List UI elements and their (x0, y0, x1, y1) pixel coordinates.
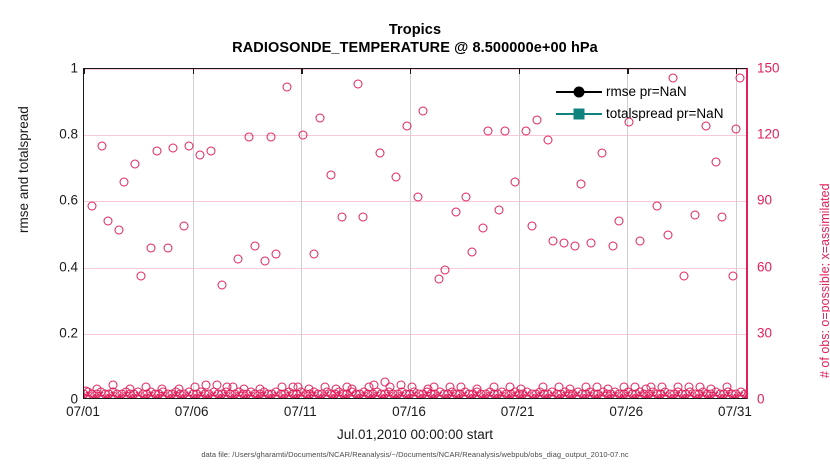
obs-possible-marker (283, 82, 292, 91)
obs-possible-marker (196, 151, 205, 160)
obs-possible-marker (598, 148, 607, 157)
legend-item-totalspread[interactable]: totalspread pr=NaN (556, 104, 723, 123)
obs-possible-marker (435, 274, 444, 283)
obs-possible-marker (511, 177, 520, 186)
x-axis-top-tickmark (301, 69, 302, 74)
y-axis-right-tick-label: 90 (757, 193, 772, 208)
y-axis-right-title: # of obs: o=possible; x=assimilated (818, 183, 830, 378)
obs-possible-marker (147, 243, 156, 252)
obs-possible-marker (413, 192, 422, 201)
vertical-gridline (410, 69, 411, 398)
obs-possible-marker (500, 126, 509, 135)
horizontal-gridline (84, 135, 746, 136)
data-file-caption: data file: /Users/gharamti/Documents/NCA… (0, 450, 830, 459)
vertical-gridline (519, 69, 520, 398)
obs-possible-marker (185, 142, 194, 151)
obs-possible-marker (250, 241, 259, 250)
obs-possible-marker (353, 80, 362, 89)
obs-possible-marker (701, 122, 710, 131)
figure-canvas: Tropics RADIOSONDE_TEMPERATURE @ 8.50000… (0, 0, 830, 470)
obs-possible-marker (266, 133, 275, 142)
obs-possible-marker (549, 237, 558, 246)
x-axis-top-tickmark (519, 69, 520, 74)
x-axis-tick-label: 07/21 (501, 404, 535, 419)
x-axis-tick-label: 07/11 (284, 404, 317, 419)
obs-possible-marker (136, 272, 145, 281)
obs-possible-marker (310, 250, 319, 259)
x-axis-tick-label: 07/06 (175, 404, 209, 419)
obs-possible-marker (736, 73, 745, 82)
obs-possible-marker (98, 142, 107, 151)
legend-label-rmse: rmse pr=NaN (602, 84, 687, 99)
y-axis-left-tick-label: 0.2 (59, 325, 78, 340)
x-axis-title: Jul.01,2010 00:00:00 start (0, 427, 830, 442)
x-axis-top-tickmark (410, 69, 411, 74)
obs-possible-marker (609, 241, 618, 250)
obs-possible-marker (543, 135, 552, 144)
obs-possible-marker (728, 272, 737, 281)
y-axis-right-tick-label: 30 (757, 325, 772, 340)
x-axis-top-tickmark (627, 69, 628, 74)
obs-possible-marker (419, 106, 428, 115)
chart-title-block: Tropics RADIOSONDE_TEMPERATURE @ 8.50000… (0, 22, 830, 58)
obs-possible-marker (272, 250, 281, 259)
obs-possible-marker (245, 133, 254, 142)
legend-label-totalspread: totalspread pr=NaN (602, 106, 723, 121)
obs-possible-marker (169, 144, 178, 153)
obs-possible-marker (440, 265, 449, 274)
y-axis-left-tick-label: 1 (70, 61, 78, 76)
x-axis-top-tickmark (193, 69, 194, 74)
obs-possible-marker (87, 201, 96, 210)
horizontal-gridline (84, 201, 746, 202)
legend-marker-rmse-circle-icon (556, 85, 602, 99)
x-axis-tick-label: 07/31 (718, 404, 752, 419)
obs-possible-marker (103, 217, 112, 226)
y-axis-left-tick-label: 0.6 (59, 193, 78, 208)
obs-possible-marker (712, 157, 721, 166)
obs-possible-marker (560, 239, 569, 248)
y-axis-left-tick-label: 0.8 (59, 127, 78, 142)
x-axis-tick-label: 07/16 (392, 404, 426, 419)
obs-possible-marker (690, 210, 699, 219)
obs-possible-marker (652, 201, 661, 210)
x-axis-top-tickmark (84, 69, 85, 74)
obs-possible-marker (717, 212, 726, 221)
obs-possible-marker (731, 124, 740, 133)
y-axis-right-tick-label: 0 (757, 392, 765, 407)
obs-possible-marker (522, 126, 531, 135)
obs-possible-marker (745, 389, 747, 398)
obs-possible-marker (315, 113, 324, 122)
obs-possible-marker (163, 243, 172, 252)
obs-possible-marker (527, 221, 536, 230)
obs-possible-marker (375, 148, 384, 157)
horizontal-gridline (84, 69, 746, 70)
obs-possible-marker (234, 254, 243, 263)
chart-title-variable: RADIOSONDE_TEMPERATURE @ 8.500000e+00 hP… (0, 39, 830, 58)
obs-possible-marker (679, 272, 688, 281)
x-axis-tick-label: 07/26 (609, 404, 643, 419)
obs-possible-marker (576, 179, 585, 188)
vertical-gridline (193, 69, 194, 398)
horizontal-gridline (84, 334, 746, 335)
horizontal-gridline (84, 268, 746, 269)
obs-possible-marker (207, 146, 216, 155)
obs-possible-marker (299, 131, 308, 140)
obs-possible-marker (533, 115, 542, 124)
legend-item-rmse[interactable]: rmse pr=NaN (556, 82, 723, 101)
y-axis-left-title: rmse and totalspread (16, 106, 31, 233)
obs-possible-marker (571, 241, 580, 250)
y-axis-right-tick-label: 120 (757, 127, 780, 142)
obs-possible-marker (179, 221, 188, 230)
obs-possible-marker (636, 237, 645, 246)
x-axis-tick-label: 07/01 (66, 404, 100, 419)
obs-possible-marker (478, 223, 487, 232)
obs-possible-marker (495, 206, 504, 215)
legend-marker-totalspread-square-icon (556, 107, 602, 121)
y-axis-left-tick-label: 0.4 (59, 259, 78, 274)
obs-possible-marker (614, 217, 623, 226)
obs-possible-marker (467, 248, 476, 257)
obs-possible-marker (326, 170, 335, 179)
obs-possible-marker (217, 281, 226, 290)
obs-possible-marker (261, 256, 270, 265)
y-axis-right-tick-label: 60 (757, 259, 772, 274)
obs-possible-marker (120, 177, 129, 186)
vertical-gridline (736, 69, 737, 398)
obs-possible-marker (337, 212, 346, 221)
legend: rmse pr=NaN totalspread pr=NaN (556, 82, 723, 123)
chart-title-region: Tropics (0, 22, 830, 39)
obs-possible-marker (402, 122, 411, 131)
obs-possible-marker (587, 239, 596, 248)
obs-possible-marker (359, 212, 368, 221)
obs-possible-marker (391, 173, 400, 182)
vertical-gridline (301, 69, 302, 398)
obs-possible-marker (484, 126, 493, 135)
y-axis-right-tick-label: 150 (757, 61, 780, 76)
obs-possible-marker (152, 146, 161, 155)
obs-possible-marker (668, 73, 677, 82)
obs-possible-marker (462, 192, 471, 201)
obs-possible-marker (663, 230, 672, 239)
obs-possible-marker (451, 208, 460, 217)
obs-possible-marker (131, 159, 140, 168)
obs-possible-marker (114, 226, 123, 235)
